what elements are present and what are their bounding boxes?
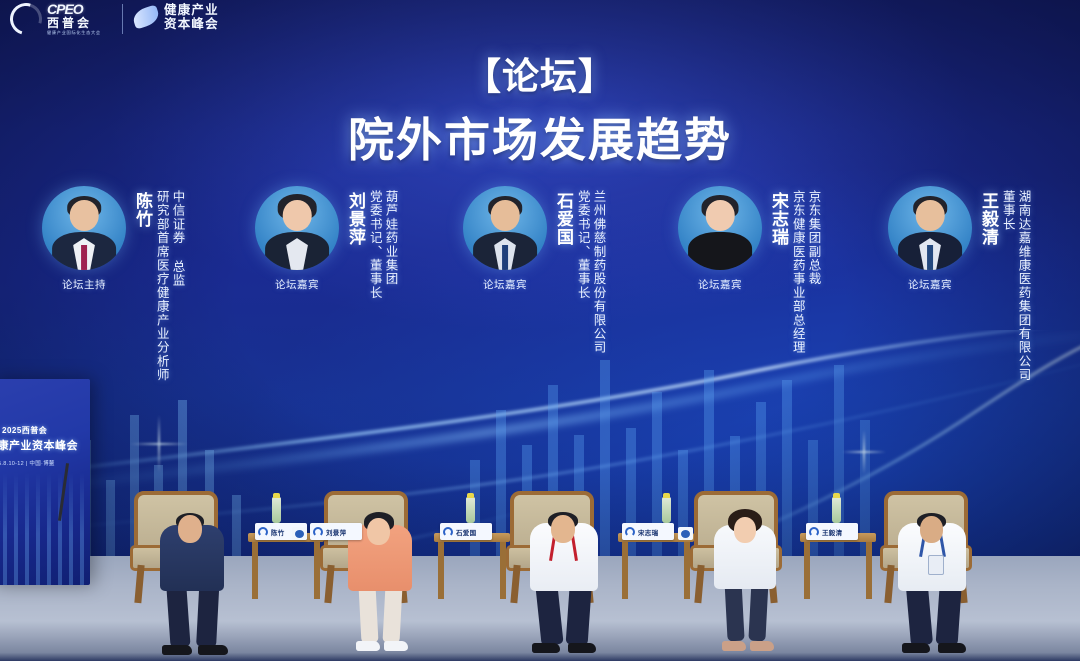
speaker-portrait-1 — [42, 186, 126, 270]
speaker-role-1: 论坛主持 — [42, 277, 126, 292]
speaker-titles-5: 湖南达嘉维康医药集团有限公司 董事长 — [1000, 190, 1030, 382]
placard-name-4: 宋志瑞 — [638, 527, 658, 537]
podium-line1: 2025西普会 — [2, 425, 47, 436]
podium: 2025西普会 健康产业资本峰会 2025.8.10-12 | 中国·博鳌 — [0, 379, 90, 585]
speaker-title-3-line2: 党委书记、董事长 — [575, 190, 589, 354]
side-table-2 — [434, 533, 510, 599]
side-table-4 — [800, 533, 876, 599]
speaker-role-3: 论坛嘉宾 — [463, 277, 547, 292]
speaker-role-2: 论坛嘉宾 — [255, 277, 339, 292]
water-bottle-2 — [466, 497, 475, 523]
side-table-3 — [618, 533, 694, 599]
speaker-portrait-4 — [678, 186, 762, 270]
side-table-1 — [248, 533, 324, 599]
logo-divider — [122, 4, 123, 34]
speaker-name-2: 刘景萍 — [343, 192, 365, 246]
cup-1 — [292, 527, 307, 540]
forum-title-line1: 【论坛】 — [0, 46, 1080, 100]
cup-2 — [678, 527, 693, 540]
placard-logo-icon-2 — [313, 527, 323, 537]
forum-title-line2: 院外市场发展趋势 — [0, 104, 1080, 170]
water-bottle-4 — [832, 497, 841, 523]
header-logo-bar: CPEO 西普会 健康产业国际化生态大会 健康产业 资本峰会 — [0, 0, 1080, 44]
summit-logo-line1: 健康产业 — [164, 3, 219, 17]
speaker-name-3: 石爱国 — [551, 192, 573, 246]
cpeo-wordmark: CPEO — [47, 2, 101, 16]
cpeo-subtitle: 健康产业国际化生态大会 — [47, 31, 101, 35]
speaker-title-4-line2: 京东健康医药事业部总经理 — [790, 190, 804, 354]
speaker-title-1-line2: 研究部首席医疗健康产业分析师 — [154, 190, 168, 382]
cpeo-logo: CPEO 西普会 健康产业国际化生态大会 — [10, 2, 101, 35]
speaker-card-1: 论坛主持 陈竹 中信证券 总监 研究部首席医疗健康产业分析师 — [42, 186, 126, 292]
placard-name-1: 陈竹 — [271, 527, 285, 537]
speaker-title-5-line1: 湖南达嘉维康医药集团有限公司 — [1016, 190, 1030, 382]
speaker-title-1-line1: 中信证券 总监 — [170, 190, 184, 382]
speaker-list: 论坛主持 陈竹 中信证券 总监 研究部首席医疗健康产业分析师 论坛嘉宾 刘景萍 … — [0, 186, 1080, 446]
cpeo-chinese-name: 西普会 — [47, 17, 101, 29]
placard-logo-icon-1 — [258, 527, 268, 537]
placard-name-2: 刘景萍 — [326, 527, 346, 537]
speaker-card-5: 论坛嘉宾 王毅清 湖南达嘉维康医药集团有限公司 董事长 — [888, 186, 972, 292]
speaker-portrait-2 — [255, 186, 339, 270]
speaker-card-4: 论坛嘉宾 宋志瑞 京东集团副总裁 京东健康医药事业部总经理 — [678, 186, 762, 292]
speaker-title-5-line2: 董事长 — [1000, 190, 1014, 382]
placard-name-3: 石爱国 — [456, 527, 476, 537]
leaf-logo-icon — [131, 4, 161, 29]
forum-title: 【论坛】 院外市场发展趋势 — [0, 46, 1080, 170]
speaker-card-3: 论坛嘉宾 石爱国 兰州佛慈制药股份有限公司 党委书记、董事长 — [463, 186, 547, 292]
conference-stage-photo: CPEO 西普会 健康产业国际化生态大会 健康产业 资本峰会 【论坛】 院外市场… — [0, 0, 1080, 661]
water-bottle-3 — [662, 497, 671, 523]
summit-logo: 健康产业 资本峰会 — [133, 3, 219, 31]
speaker-portrait-5 — [888, 186, 972, 270]
podium-line2: 健康产业资本峰会 — [0, 437, 78, 453]
placard-logo-icon-4 — [625, 527, 635, 537]
placard-name-5: 王毅清 — [822, 527, 842, 537]
speaker-role-4: 论坛嘉宾 — [678, 277, 762, 292]
speaker-title-4-line1: 京东集团副总裁 — [806, 190, 820, 354]
speaker-title-2-line1: 葫芦娃药业集团 — [383, 190, 397, 300]
placard-3: 石爱国 — [440, 523, 492, 540]
speaker-role-5: 论坛嘉宾 — [888, 277, 972, 292]
speaker-titles-3: 兰州佛慈制药股份有限公司 党委书记、董事长 — [575, 190, 605, 354]
speaker-titles-4: 京东集团副总裁 京东健康医药事业部总经理 — [790, 190, 820, 354]
speaker-card-2: 论坛嘉宾 刘景萍 葫芦娃药业集团 党委书记、董事长 — [255, 186, 339, 292]
speaker-portrait-3 — [463, 186, 547, 270]
placard-5: 王毅清 — [806, 523, 858, 540]
summit-logo-line2: 资本峰会 — [164, 17, 219, 31]
placard-2: 刘景萍 — [310, 523, 362, 540]
podium-date: 2025.8.10-12 | 中国·博鳌 — [0, 459, 55, 467]
cpeo-circle-logo-icon — [4, 0, 47, 40]
speaker-name-5: 王毅清 — [976, 192, 998, 246]
speaker-name-4: 宋志瑞 — [766, 192, 788, 246]
name-badge — [928, 555, 944, 575]
speaker-name-1: 陈竹 — [130, 192, 152, 228]
placard-logo-icon-5 — [809, 527, 819, 537]
placard-4: 宋志瑞 — [622, 523, 674, 540]
speaker-title-2-line2: 党委书记、董事长 — [367, 190, 381, 300]
placard-logo-icon-3 — [443, 527, 453, 537]
speaker-titles-1: 中信证券 总监 研究部首席医疗健康产业分析师 — [154, 190, 184, 382]
water-bottle-1 — [272, 497, 281, 523]
speaker-titles-2: 葫芦娃药业集团 党委书记、董事长 — [367, 190, 397, 300]
speaker-title-3-line1: 兰州佛慈制药股份有限公司 — [591, 190, 605, 354]
